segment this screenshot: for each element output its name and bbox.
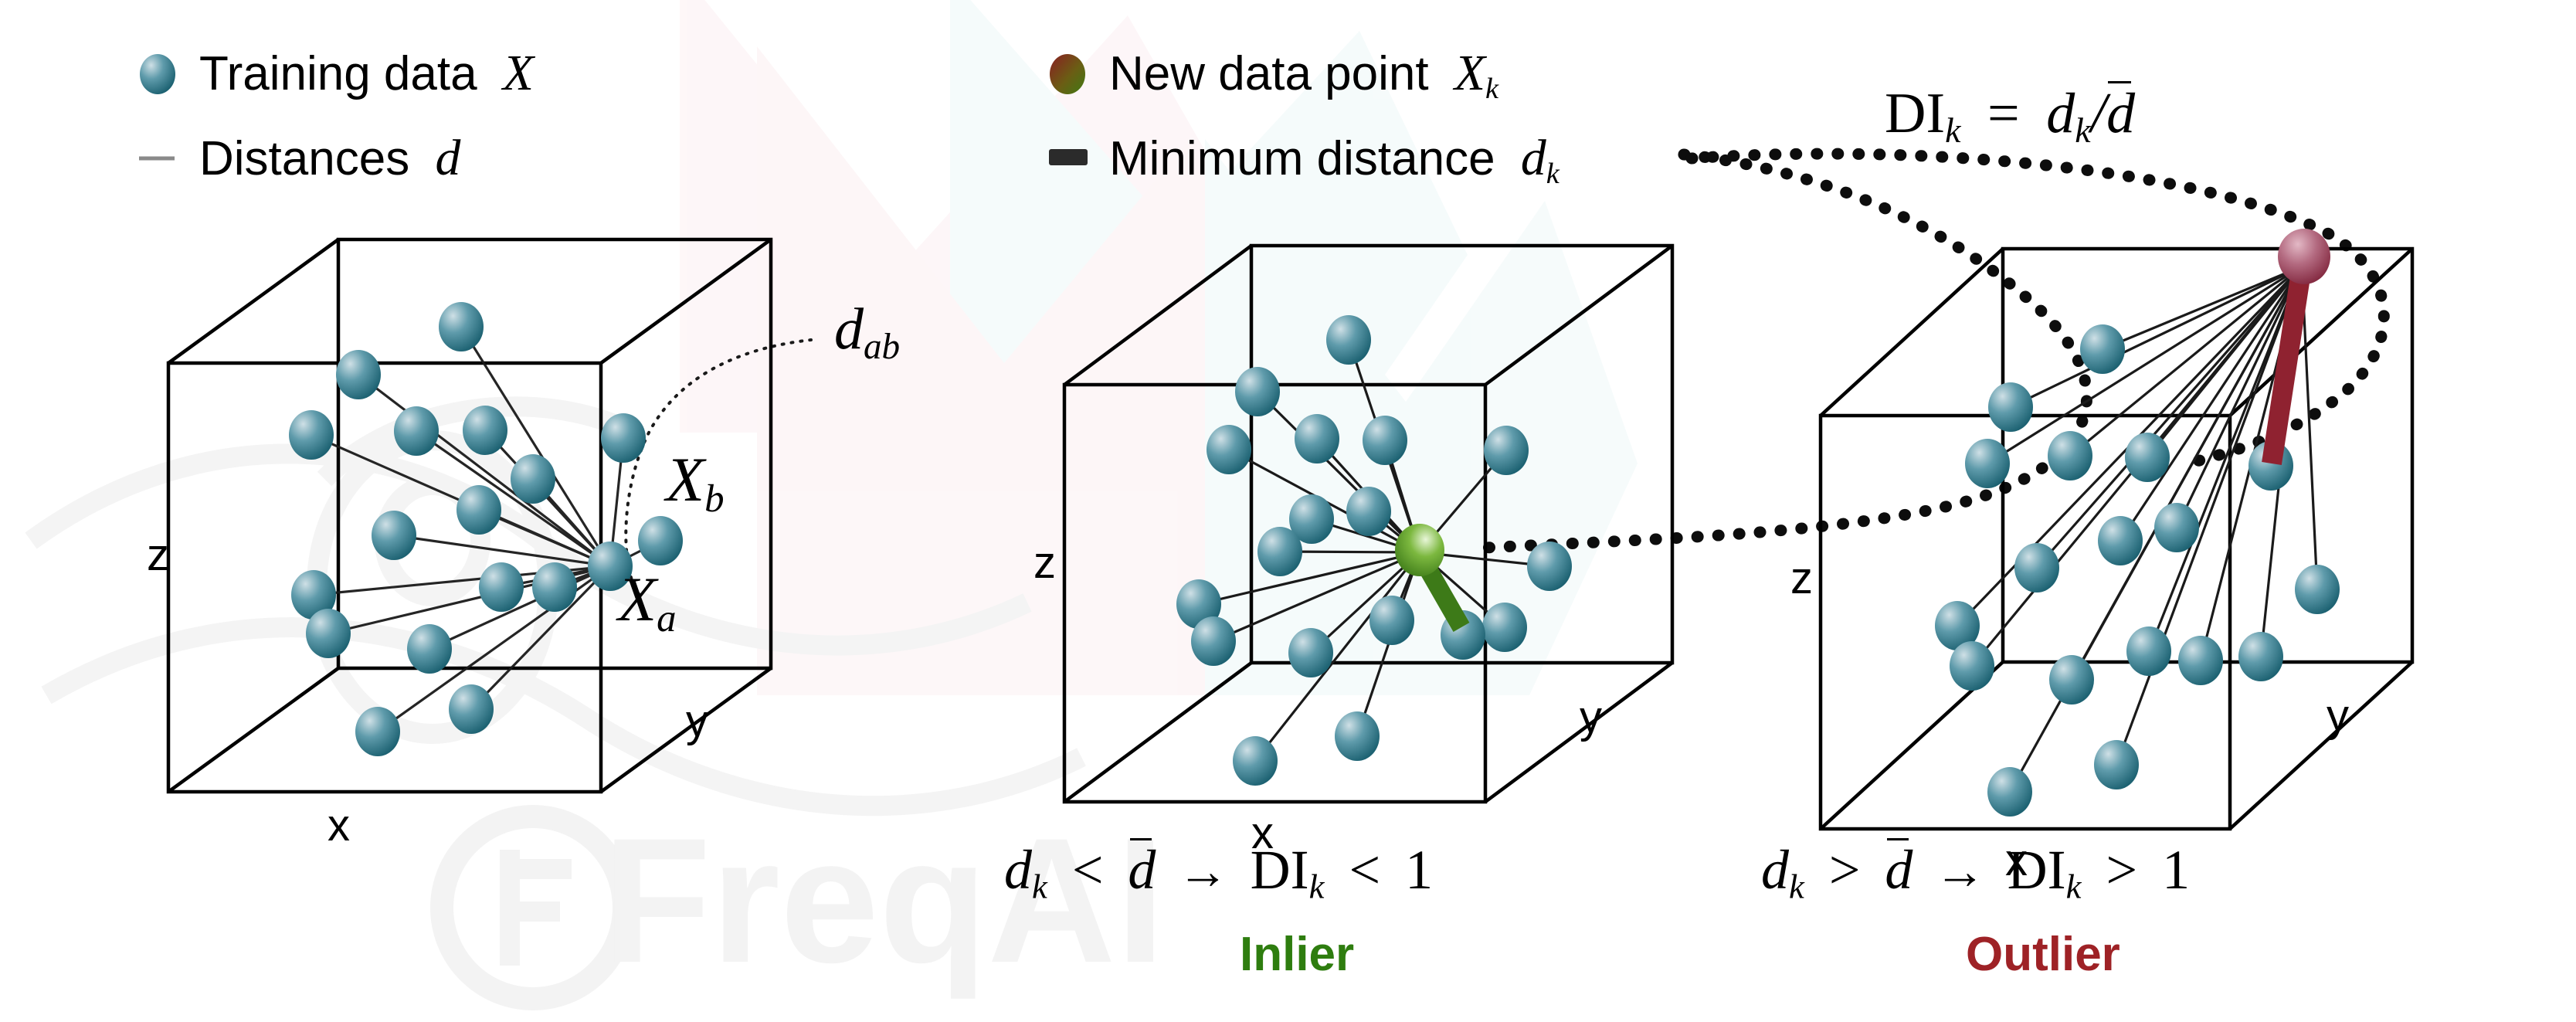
outlier-condition-formula: dk > d → DIk > 1 (1761, 842, 2190, 904)
inlier-verdict-label: Inlier (1240, 931, 1354, 979)
outlier-verdict-label: Outlier (1966, 931, 2120, 979)
new-data-point-outlier (2278, 229, 2330, 284)
panel3-axis-label-z: z (1790, 556, 1813, 601)
inlier-condition-formula: dk < d → DIk < 1 (1004, 842, 1433, 904)
diagram-canvas: FreqAI Training data X Distances d New d… (0, 0, 2576, 1022)
panel3-axis-label-y: y (2327, 694, 2349, 738)
